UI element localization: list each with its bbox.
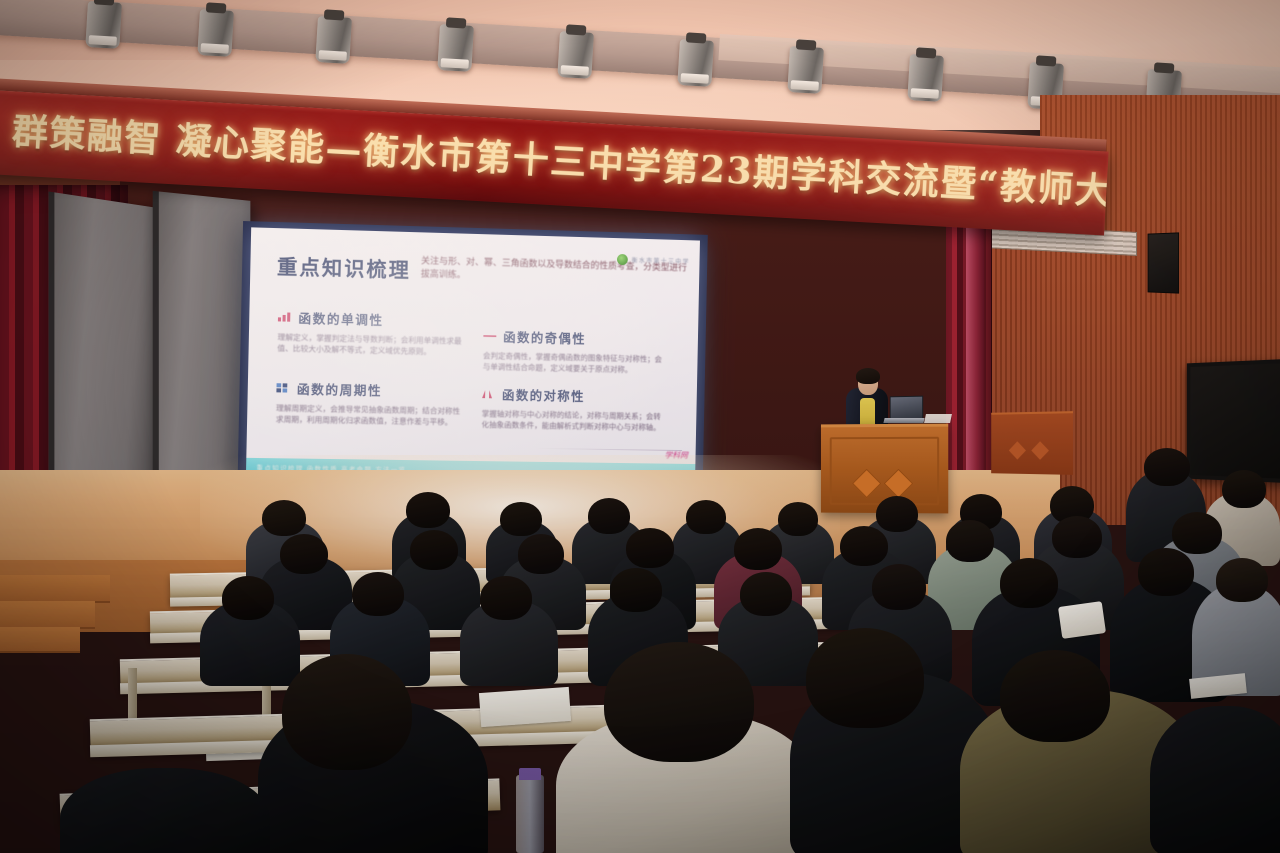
attendee-head [500,502,542,536]
stage-step [0,627,80,653]
spotlight-icon [557,31,594,79]
side-table [991,411,1073,475]
attendee-head [518,534,564,574]
slide-title: 重点知识梳理 [277,250,411,283]
section-body: 理解定义，掌握判定法与导数判断；会利用单调性求最值、比较大小及解不等式，定义域优… [277,333,464,358]
section-title: 函数的对称性 [502,384,585,404]
water-bottle [516,775,544,853]
presenter-hair [856,368,880,384]
attendee-head [1138,548,1194,596]
attendee-head [740,572,792,616]
attendee-head [406,492,450,528]
conference-hall-photo: 群策融智 凝心聚能—衡水市第十三中学第23期学科交流暨“教师大讲堂” 重点知识梳… [0,0,1280,853]
attendee-head [222,576,274,620]
attendee-head [840,526,888,566]
attendee-head [1144,448,1190,486]
slide-section-monotonicity: 函数的单调性 理解定义，掌握判定法与导数判断；会利用单调性求最值、比较大小及解不… [277,307,465,358]
attendee-head [604,642,754,762]
bottle-cap-icon [519,768,541,780]
wall-display-screen [1187,358,1280,483]
spotlight-icon [907,54,944,102]
attendee-head [1000,650,1110,742]
slide-section-parity: 函数的奇偶性 会判定奇偶性，掌握奇偶函数的图象特征与对称性；会与单调性结合命题，… [483,326,666,376]
slide-section-symmetry: 函数的对称性 掌握轴对称与中心对称的结论，对称与周期关系；会转化抽象函数条件，能… [481,384,664,433]
attendee-head [280,534,328,574]
attendee-head [626,528,674,568]
spotlight-icon [437,24,474,72]
attendee-head [262,500,306,536]
spotlight-icon [197,9,234,57]
attendee-head [1052,516,1102,558]
stage-step [0,575,110,603]
attendee-head [686,500,726,534]
wall-speaker-icon [1148,232,1180,293]
section-title: 函数的奇偶性 [503,327,586,348]
attendee-head [872,564,926,610]
attendee-head [1000,558,1058,608]
section-body: 掌握轴对称与中心对称的结论，对称与周期关系；会转化抽象函数条件，能由解析式判断对… [481,409,663,433]
attendee-head [778,502,818,536]
slide-school-logo: 衡水市第十三中学 [617,254,690,267]
presentation-slide: 重点知识梳理 关注与形、对、幂、三角函数以及导数结合的性质考查，分类型进行拔高训… [246,227,700,480]
squares-icon [276,383,289,392]
desk-papers [479,687,571,727]
attendee-head [352,572,404,616]
attendee-head [588,498,630,534]
attendee-head [1172,512,1222,554]
desk-tissue [1058,601,1106,639]
section-title: 函数的单调性 [298,308,384,329]
podium-papers [924,414,952,423]
attendee-head [1222,470,1266,508]
side-table-diamond-icon [1031,441,1049,459]
slide-section-periodicity: 函数的周期性 理解周期定义，会推导常见抽象函数周期；结合对称性求周期，利用周期化… [276,378,464,428]
attendee-head [806,628,924,728]
triangle-icon [482,389,495,398]
attendee-head [610,568,662,612]
attendee-foreground [60,768,270,853]
laptop-base [883,418,924,423]
spotlight-icon [315,16,352,64]
attendee-head [734,528,782,570]
projection-screen: 重点知识梳理 关注与形、对、幂、三角函数以及导数结合的性质考查，分类型进行拔高训… [238,221,708,487]
attendee-foreground [1150,706,1280,853]
side-table-diamond-icon [1009,441,1026,459]
school-logo-icon [617,254,628,265]
attendee-head [282,654,412,770]
dash-icon [483,331,496,340]
section-body: 理解周期定义，会推导常见抽象函数周期；结合对称性求周期，利用周期化归求函数值，注… [276,403,463,427]
spotlight-icon [85,1,122,49]
spotlight-icon [677,39,714,87]
spotlight-icon [787,46,824,94]
section-title: 函数的周期性 [297,379,383,400]
attendee-head [480,576,532,620]
stage-step [0,601,95,629]
attendee-head [946,520,994,562]
podium-panel [830,437,939,506]
section-body: 会判定奇偶性，掌握奇偶函数的图象特征与对称性；会与单调性结合命题，定义域要关于原… [483,351,665,376]
attendee-head [1216,558,1268,602]
slide-divider [536,448,683,451]
attendee-head [410,530,458,570]
attendee-head [876,496,918,532]
bar-icon [278,312,291,321]
school-logo-text: 衡水市第十三中学 [632,255,690,266]
